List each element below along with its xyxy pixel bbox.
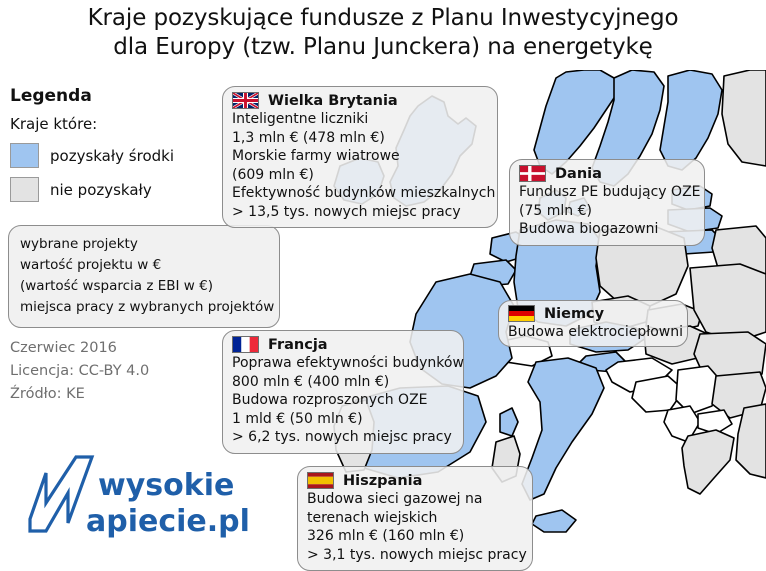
callout-es-line-3: 326 mln € (160 mln €) bbox=[307, 527, 523, 546]
flag-united-kingdom-icon bbox=[232, 92, 259, 109]
legend-subheading: Kraje które: bbox=[10, 115, 225, 133]
credits-block: Czerwiec 2016 Licencja: CC-BY 4.0 Źródło… bbox=[10, 337, 250, 406]
credits-license: Licencja: CC-BY 4.0 bbox=[10, 360, 250, 383]
legend-label-funded: pozyskały środki bbox=[50, 147, 174, 165]
callout-uk-country: Wielka Brytania bbox=[268, 93, 398, 109]
country-ukraine bbox=[690, 264, 766, 342]
callout-fr-line-2: 800 mln € (400 mln €) bbox=[232, 373, 454, 392]
callout-dk-country: Dania bbox=[555, 166, 602, 182]
flag-germany-icon bbox=[508, 305, 535, 322]
legend-item-unfunded: nie pozyskały bbox=[10, 177, 225, 202]
legend-swatch-funded bbox=[10, 143, 39, 168]
callout-uk-line-5: Efektywność budynków mieszkalnych bbox=[232, 184, 488, 203]
callout-fr-country: Francja bbox=[268, 337, 328, 353]
key-line-1: wybrane projekty bbox=[20, 234, 268, 255]
callout-uk-line-4: (609 mln €) bbox=[232, 166, 488, 185]
callout-fr-line-4: 1 mld € (50 mln €) bbox=[232, 410, 454, 429]
credits-source: Źródło: KE bbox=[10, 383, 250, 406]
callout-dk-line-2: (75 mln €) bbox=[519, 202, 695, 221]
callout-es-header: Hiszpania bbox=[307, 472, 523, 489]
legend-key-box: wybrane projekty wartość projektu w € (w… bbox=[8, 225, 280, 328]
callout-dk-line-1: Fundusz PE budujący OZE bbox=[519, 183, 695, 202]
callout-fr-line-5: > 6,2 tys. nowych miejsc pracy bbox=[232, 428, 454, 447]
callout-uk-line-3: Morskie farmy wiatrowe bbox=[232, 147, 488, 166]
flag-france-icon bbox=[232, 336, 259, 353]
callout-es-country: Hiszpania bbox=[343, 473, 422, 489]
callout-de-country: Niemcy bbox=[544, 306, 604, 322]
page-title-line-2: dla Europy (tzw. Planu Junckera) na ener… bbox=[0, 33, 766, 62]
callout-uk-line-6: > 13,5 tys. nowych miejsc pracy bbox=[232, 203, 488, 222]
country-sicily bbox=[532, 510, 576, 532]
callout-fr-line-3: Budowa rozproszonych OZE bbox=[232, 391, 454, 410]
callout-francja[interactable]: Francja Poprawa efektywności budynków 80… bbox=[222, 330, 464, 454]
country-corsica bbox=[500, 408, 518, 436]
callout-wielka-brytania[interactable]: Wielka Brytania Inteligentne liczniki 1,… bbox=[222, 86, 498, 228]
callout-fr-line-1: Poprawa efektywności budynków bbox=[232, 354, 454, 373]
key-line-2: wartość projektu w € bbox=[20, 255, 268, 276]
logo-bolt-icon bbox=[30, 457, 92, 531]
callout-dk-header: Dania bbox=[519, 165, 695, 182]
callout-de-line-1: Budowa elektrociepłowni bbox=[508, 323, 678, 342]
callout-uk-line-1: Inteligentne liczniki bbox=[232, 110, 488, 129]
country-italy bbox=[522, 358, 604, 500]
page-title-line-1: Kraje pozyskujące fundusze z Planu Inwes… bbox=[0, 4, 766, 33]
logo-text-line1: wysokie bbox=[98, 468, 234, 503]
legend-item-funded: pozyskały środki bbox=[10, 143, 225, 168]
legend-label-unfunded: nie pozyskały bbox=[50, 181, 152, 199]
callout-es-line-1: Budowa sieci gazowej na bbox=[307, 490, 523, 509]
callout-fr-header: Francja bbox=[232, 336, 454, 353]
country-finland bbox=[660, 70, 722, 170]
callout-hiszpania[interactable]: Hiszpania Budowa sieci gazowej na terena… bbox=[297, 466, 533, 571]
key-line-3: (wartość wsparcia z EBI w €) bbox=[20, 276, 268, 297]
country-russia bbox=[722, 70, 766, 166]
callout-uk-header: Wielka Brytania bbox=[232, 92, 488, 109]
wysokienapiecie-logo[interactable]: wysokie apiecie.pl bbox=[24, 455, 260, 545]
credits-date: Czerwiec 2016 bbox=[10, 337, 250, 360]
legend-swatch-unfunded bbox=[10, 177, 39, 202]
callout-de-header: Niemcy bbox=[508, 305, 678, 322]
key-line-4: miejsca pracy z wybranych projektów bbox=[20, 297, 268, 318]
callout-uk-line-2: 1,3 mln € (478 mln €) bbox=[232, 129, 488, 148]
logo-text-line2: apiecie.pl bbox=[86, 504, 250, 539]
legend: Legenda Kraje które: pozyskały środki ni… bbox=[10, 86, 225, 211]
callout-es-line-2: terenach wiejskich bbox=[307, 509, 523, 528]
callout-dania[interactable]: Dania Fundusz PE budujący OZE (75 mln €)… bbox=[509, 159, 705, 246]
legend-heading: Legenda bbox=[10, 86, 225, 106]
callout-es-line-4: > 3,1 tys. nowych miejsc pracy bbox=[307, 546, 523, 565]
page-title: Kraje pozyskujące fundusze z Planu Inwes… bbox=[0, 4, 766, 62]
flag-spain-icon bbox=[307, 472, 334, 489]
country-greece bbox=[682, 430, 734, 494]
callout-niemcy[interactable]: Niemcy Budowa elektrociepłowni bbox=[498, 300, 688, 347]
callout-dk-line-3: Budowa biogazowni bbox=[519, 220, 695, 239]
flag-denmark-icon bbox=[519, 165, 546, 182]
